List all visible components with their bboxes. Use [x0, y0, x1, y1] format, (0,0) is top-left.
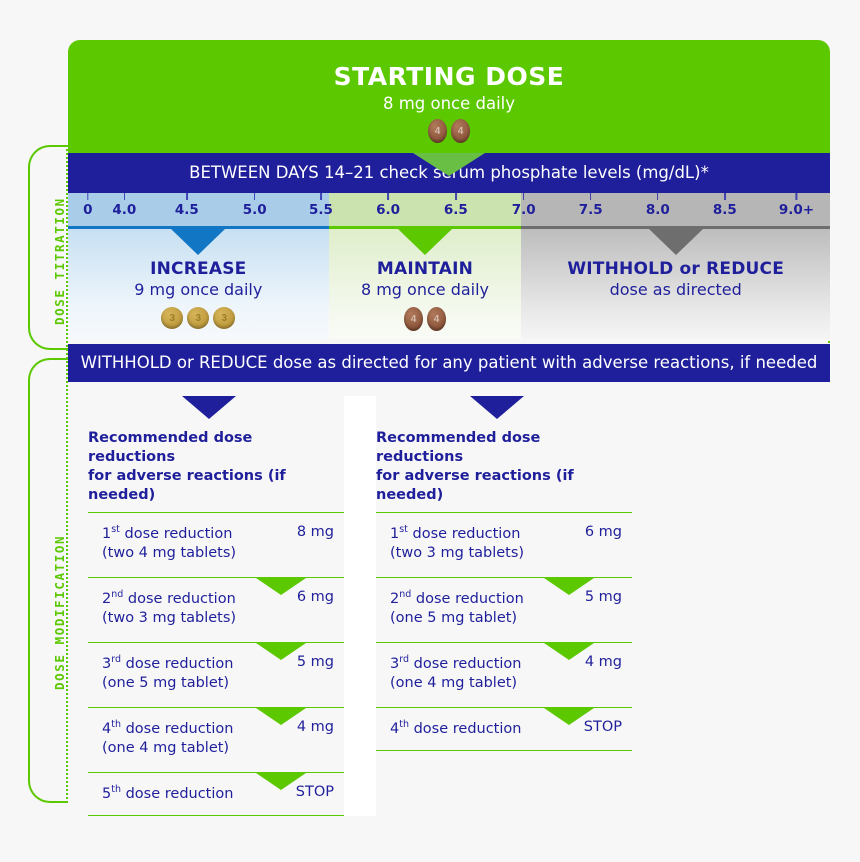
table-row: 3rd dose reduction(one 4 mg tablet)4 mg	[376, 642, 632, 707]
reduction-label-text: dose reduction	[123, 590, 235, 606]
reduction-label: 1st dose reduction(two 3 mg tablets)	[390, 523, 524, 564]
reduction-label-text: dose reduction	[409, 720, 521, 736]
withhold-reduce-banner: WITHHOLD or REDUCE dose as directed for …	[68, 344, 830, 382]
arrow-down-icon-step	[544, 578, 594, 595]
reduction-label: 2nd dose reduction(two 3 mg tablets)	[102, 588, 236, 629]
scale-tick: 9.0+	[779, 193, 814, 218]
reduction-ordinal-suffix: nd	[111, 589, 123, 600]
reduction-detail: (one 5 mg tablet)	[102, 673, 234, 693]
reduction-ordinal: 4	[390, 720, 399, 736]
arrow-down-icon-step	[256, 708, 306, 725]
tick-mark-icon	[724, 193, 726, 200]
reduction-ordinal: 5	[102, 785, 111, 801]
tick-label: 8.5	[713, 202, 737, 218]
table-heading-line1: Recommended dose reductions	[376, 429, 632, 467]
dose-reduction-table: Recommended dose reductionsfor adverse r…	[376, 396, 632, 816]
reduction-ordinal: 2	[390, 590, 399, 606]
reduction-ordinal-suffix: st	[399, 524, 408, 535]
action-subtitle: 8 mg once daily	[329, 280, 522, 299]
starting-dose-tablet-icons: 44	[68, 119, 830, 143]
tick-mark-icon	[796, 193, 798, 200]
reduction-label-text: dose reduction	[121, 655, 233, 671]
scale-tick: 7.5	[579, 193, 603, 218]
scale-tick: 5.5	[309, 193, 333, 218]
scale-tick: 6.5	[444, 193, 468, 218]
arrow-down-icon	[398, 229, 452, 255]
action-title: INCREASE	[68, 259, 329, 279]
starting-dose-subtitle: 8 mg once daily	[68, 94, 830, 113]
rail-label-dose-titration: DOSE TITRATION	[52, 197, 67, 325]
reduction-ordinal-suffix: th	[399, 719, 409, 730]
arrow-down-icon	[649, 229, 703, 255]
reduction-detail: (one 5 mg tablet)	[390, 608, 524, 628]
table-heading-line2: for adverse reactions (if needed)	[88, 467, 344, 505]
reduction-detail: (two 4 mg tablets)	[102, 543, 236, 563]
reduction-detail: (one 4 mg tablet)	[390, 673, 522, 693]
dosing-board: STARTING DOSE 8 mg once daily 44 BETWEEN…	[68, 40, 830, 816]
scale-tick: 6.0	[376, 193, 400, 218]
reduction-label: 4th dose reduction	[390, 718, 521, 739]
table-row: 5th dose reductionSTOP	[88, 772, 344, 817]
reduction-label-text: dose reduction	[411, 590, 523, 606]
tick-label: 0	[83, 202, 92, 218]
reduction-label: 2nd dose reduction(one 5 mg tablet)	[390, 588, 524, 629]
action-tablet-icons: 333	[68, 307, 329, 329]
phosphate-scale: 04.04.55.05.56.06.57.07.58.08.59.0+	[68, 193, 830, 229]
table-row-content: 1st dose reduction(two 4 mg tablets)8 mg	[88, 513, 344, 577]
starting-dose-panel: STARTING DOSE 8 mg once daily 44	[68, 40, 830, 153]
tick-mark-icon	[320, 193, 322, 200]
tick-mark-icon	[523, 193, 525, 200]
arrow-down-icon-step	[544, 643, 594, 660]
reduction-ordinal: 3	[390, 655, 399, 671]
reduction-label: 3rd dose reduction(one 4 mg tablet)	[390, 653, 522, 694]
table-heading-line1: Recommended dose reductions	[88, 429, 344, 467]
reduction-ordinal: 1	[390, 525, 399, 541]
tick-mark-icon	[387, 193, 389, 200]
action-panel-maintain[interactable]: MAINTAIN8 mg once daily44	[329, 229, 522, 339]
arrow-down-icon-step	[544, 708, 594, 725]
table-row-content: 1st dose reduction(two 3 mg tablets)6 mg	[376, 513, 632, 577]
action-panel-withhold[interactable]: WITHHOLD or REDUCEdose as directed	[521, 229, 830, 339]
action-panels: INCREASE9 mg once daily333MAINTAIN8 mg o…	[68, 229, 830, 339]
scale-tick: 7.0	[512, 193, 536, 218]
reduction-ordinal: 3	[102, 655, 111, 671]
starting-dose-title: STARTING DOSE	[68, 62, 830, 91]
arrow-down-icon-step	[256, 578, 306, 595]
tick-label: 4.0	[112, 202, 136, 218]
tick-label: 5.0	[243, 202, 267, 218]
table-row: 2nd dose reduction(two 3 mg tablets)6 mg	[88, 577, 344, 642]
action-panel-increase[interactable]: INCREASE9 mg once daily333	[68, 229, 329, 339]
tick-label: 9.0+	[779, 202, 814, 218]
arrow-down-icon-step	[256, 773, 306, 790]
tick-label: 4.5	[175, 202, 199, 218]
action-title: WITHHOLD or REDUCE	[521, 259, 830, 279]
tablet-icon: 4	[428, 119, 447, 143]
dose-reduction-table: Recommended dose reductionsfor adverse r…	[88, 396, 344, 816]
tablet-icon: 4	[427, 307, 446, 331]
reduction-label-text: dose reduction	[121, 785, 233, 801]
reduction-label-text: dose reduction	[408, 525, 520, 541]
arrow-down-icon-step	[256, 643, 306, 660]
tablet-icon: 3	[187, 307, 209, 329]
dose-reduction-tables: Recommended dose reductionsfor adverse r…	[68, 382, 830, 816]
reduction-ordinal-suffix: th	[111, 784, 121, 795]
reduction-ordinal-suffix: th	[111, 719, 121, 730]
reduction-ordinal: 2	[102, 590, 111, 606]
scale-tick: 4.5	[175, 193, 199, 218]
tick-label: 5.5	[309, 202, 333, 218]
reduction-label-text: dose reduction	[121, 720, 233, 736]
arrow-down-icon-to-check	[413, 153, 485, 176]
reduction-label: 5th dose reduction	[102, 783, 233, 804]
table-heading: Recommended dose reductionsfor adverse r…	[376, 429, 632, 506]
reduction-value: 6 mg	[585, 523, 632, 540]
scale-tick: 8.5	[713, 193, 737, 218]
reduction-ordinal: 1	[102, 525, 111, 541]
section-rail: DOSE TITRATION DOSE MODIFICATION	[0, 0, 66, 862]
action-tablet-icons: 44	[329, 307, 522, 331]
tick-mark-icon	[455, 193, 457, 200]
rail-label-dose-modification: DOSE MODIFICATION	[52, 535, 67, 690]
reduction-label: 4th dose reduction(one 4 mg tablet)	[102, 718, 233, 759]
tick-mark-icon	[657, 193, 659, 200]
table-row: 1st dose reduction(two 3 mg tablets)6 mg	[376, 512, 632, 577]
reduction-detail: (two 3 mg tablets)	[102, 608, 236, 628]
tick-mark-icon	[254, 193, 256, 200]
tick-label: 7.0	[512, 202, 536, 218]
tick-mark-icon	[87, 193, 89, 200]
tick-mark-icon	[590, 193, 592, 200]
tablet-icon: 3	[161, 307, 183, 329]
scale-tick: 5.0	[243, 193, 267, 218]
arrow-down-icon-table	[182, 396, 236, 419]
column-divider	[344, 396, 376, 816]
tablet-icon: 3	[213, 307, 235, 329]
reduction-label-text: dose reduction	[409, 655, 521, 671]
action-subtitle: 9 mg once daily	[68, 280, 329, 299]
arrow-down-icon	[171, 229, 225, 255]
table-heading-line2: for adverse reactions (if needed)	[376, 467, 632, 505]
tick-mark-icon	[186, 193, 188, 200]
reduction-ordinal-suffix: nd	[399, 589, 411, 600]
table-row: 4th dose reductionSTOP	[376, 707, 632, 752]
table-row: 3rd dose reduction(one 5 mg tablet)5 mg	[88, 642, 344, 707]
reduction-detail: (one 4 mg tablet)	[102, 738, 233, 758]
tick-label: 8.0	[646, 202, 670, 218]
reduction-ordinal: 4	[102, 720, 111, 736]
table-heading: Recommended dose reductionsfor adverse r…	[88, 429, 344, 506]
reduction-ordinal-suffix: rd	[399, 654, 409, 665]
scale-tick: 8.0	[646, 193, 670, 218]
table-row: 2nd dose reduction(one 5 mg tablet)5 mg	[376, 577, 632, 642]
scale-band	[329, 193, 522, 229]
reduction-label: 3rd dose reduction(one 5 mg tablet)	[102, 653, 234, 694]
scale-tick: 0	[83, 193, 92, 218]
tick-label: 7.5	[579, 202, 603, 218]
arrow-down-icon-table	[470, 396, 524, 419]
action-title: MAINTAIN	[329, 259, 522, 279]
scale-tick: 4.0	[112, 193, 136, 218]
reduction-value: 8 mg	[297, 523, 344, 540]
reduction-label: 1st dose reduction(two 4 mg tablets)	[102, 523, 236, 564]
reduction-detail: (two 3 mg tablets)	[390, 543, 524, 563]
table-row: 1st dose reduction(two 4 mg tablets)8 mg	[88, 512, 344, 577]
tablet-icon: 4	[451, 119, 470, 143]
reduction-ordinal-suffix: st	[111, 524, 120, 535]
tablet-icon: 4	[404, 307, 423, 331]
action-subtitle: dose as directed	[521, 280, 830, 299]
table-row: 4th dose reduction(one 4 mg tablet)4 mg	[88, 707, 344, 772]
tick-label: 6.5	[444, 202, 468, 218]
tick-label: 6.0	[376, 202, 400, 218]
reduction-label-text: dose reduction	[120, 525, 232, 541]
reduction-ordinal-suffix: rd	[111, 654, 121, 665]
tick-mark-icon	[124, 193, 126, 200]
